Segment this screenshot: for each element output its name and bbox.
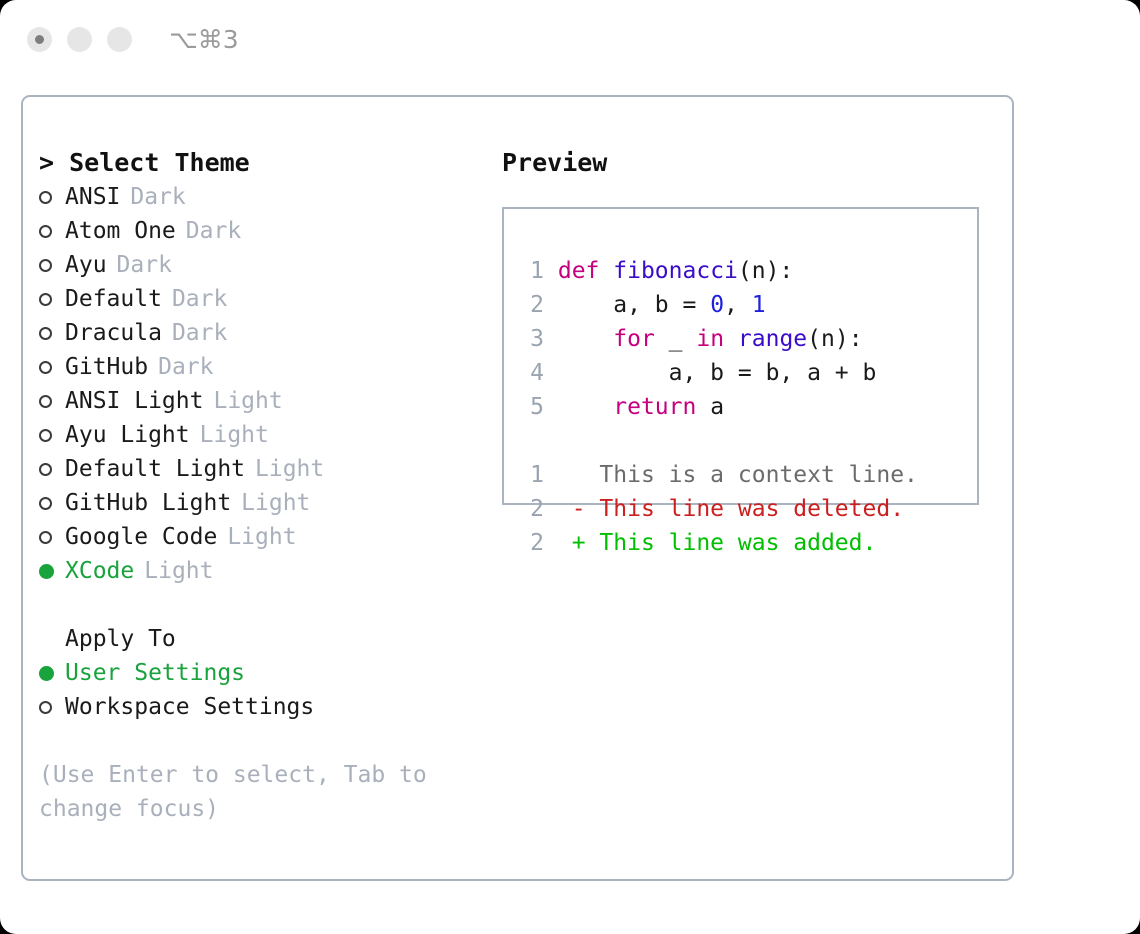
theme-list: ANSIDarkAtom OneDarkAyuDarkDefaultDarkDr… (39, 180, 489, 588)
code-line-number: 2 (516, 492, 544, 526)
theme-radio (39, 350, 65, 384)
theme-name-label: XCode (65, 554, 134, 588)
code-line-number: 2 (516, 288, 544, 322)
code-line: 4 a, b = b, a + b (516, 356, 918, 390)
apply-to-option[interactable]: Workspace Settings (39, 690, 489, 724)
active-indicator-dot (35, 35, 44, 44)
theme-kind-label: Light (255, 452, 324, 486)
code-token-fn: fibonacci (613, 258, 738, 284)
theme-radio (39, 316, 65, 350)
theme-name-label: Default Light (65, 452, 245, 486)
radio-unselected-icon (39, 327, 52, 340)
app-window: ⌥⌘3 > Select Theme ANSIDarkAtom OneDarkA… (0, 0, 1140, 934)
theme-name-label: Google Code (65, 520, 217, 554)
theme-list-item[interactable]: GitHub LightLight (39, 486, 489, 520)
code-token-plain (558, 394, 613, 420)
code-line: 5 return a (516, 390, 918, 424)
theme-kind-label: Light (144, 554, 213, 588)
apply-to-label: User Settings (65, 656, 245, 690)
code-token-plain (599, 258, 613, 284)
preview-heading: Preview (502, 146, 1002, 180)
gutter-gap (544, 360, 558, 386)
apply-to-option[interactable]: User Settings (39, 656, 489, 690)
theme-kind-label: Light (241, 486, 310, 520)
theme-kind-label: Dark (117, 248, 172, 282)
code-token-kw: in (696, 326, 724, 352)
code-token-plain (724, 326, 738, 352)
code-token-fn: range (738, 326, 807, 352)
main-panel: > Select Theme ANSIDarkAtom OneDarkAyuDa… (21, 95, 1014, 881)
apply-to-radio (39, 690, 65, 724)
radio-unselected-icon (39, 361, 52, 374)
radio-unselected-icon (39, 225, 52, 238)
theme-radio (39, 520, 65, 554)
apply-to-radio (39, 656, 65, 690)
theme-kind-label: Light (213, 384, 282, 418)
code-line-number: 1 (516, 254, 544, 288)
code-token-plain: _ (655, 326, 697, 352)
code-blank-line (516, 424, 918, 458)
radio-unselected-icon (39, 191, 52, 204)
code-token-plain: a, b = (558, 292, 710, 318)
diff-line: 2 - This line was deleted. (516, 492, 918, 526)
code-preview-area: 1 def fibonacci(n):2 a, b = 0, 13 for _ … (516, 254, 918, 560)
theme-list-item[interactable]: DefaultDark (39, 282, 489, 316)
theme-radio (39, 554, 65, 588)
code-line-number: 3 (516, 322, 544, 356)
theme-list-item[interactable]: ANSIDark (39, 180, 489, 214)
titlebar: ⌥⌘3 (0, 0, 1140, 78)
theme-radio (39, 384, 65, 418)
apply-to-heading: Apply To (39, 622, 489, 656)
theme-kind-label: Dark (172, 316, 227, 350)
apply-to-options: User SettingsWorkspace Settings (39, 656, 489, 724)
code-token-del: - This line was deleted. (558, 496, 904, 522)
theme-radio (39, 214, 65, 248)
code-token-kw: for (613, 326, 655, 352)
radio-unselected-icon (39, 259, 52, 272)
radio-unselected-icon (39, 395, 52, 408)
theme-list-item[interactable]: AyuDark (39, 248, 489, 282)
diff-line: 2 + This line was added. (516, 526, 918, 560)
theme-name-label: Ayu (65, 248, 107, 282)
preview-column: Preview (502, 146, 1002, 180)
gutter-gap (544, 292, 558, 318)
code-token-plain: , (724, 292, 752, 318)
theme-kind-label: Dark (172, 282, 227, 316)
radio-unselected-icon (39, 463, 52, 476)
apply-to-block: Apply To User SettingsWorkspace Settings (39, 622, 489, 724)
theme-radio (39, 248, 65, 282)
traffic-light-maximize-icon[interactable] (107, 27, 132, 52)
gutter-gap (544, 258, 558, 284)
theme-selector-column: > Select Theme ANSIDarkAtom OneDarkAyuDa… (39, 146, 489, 826)
gutter-gap (544, 326, 558, 352)
code-token-plain: (n): (807, 326, 862, 352)
radio-unselected-icon (39, 429, 52, 442)
code-token-plain: a, b = b, a + b (558, 360, 877, 386)
theme-radio (39, 452, 65, 486)
code-token-num: 0 (710, 292, 724, 318)
preview-box: 1 def fibonacci(n):2 a, b = 0, 13 for _ … (502, 207, 979, 505)
theme-kind-label: Dark (158, 350, 213, 384)
theme-name-label: ANSI Light (65, 384, 203, 418)
radio-unselected-icon (39, 293, 52, 306)
theme-radio (39, 282, 65, 316)
select-theme-heading: > Select Theme (39, 146, 489, 180)
gutter-gap (544, 394, 558, 420)
theme-radio (39, 418, 65, 452)
theme-name-label: Dracula (65, 316, 162, 350)
code-token-plain: (n): (738, 258, 793, 284)
theme-kind-label: Light (200, 418, 269, 452)
theme-list-item[interactable]: GitHubDark (39, 350, 489, 384)
theme-list-item[interactable]: Ayu LightLight (39, 418, 489, 452)
code-line: 2 a, b = 0, 1 (516, 288, 918, 322)
theme-kind-label: Dark (186, 214, 241, 248)
radio-selected-icon (39, 666, 54, 681)
code-line: 3 for _ in range(n): (516, 322, 918, 356)
apply-to-label: Workspace Settings (65, 690, 314, 724)
theme-kind-label: Dark (130, 180, 185, 214)
theme-name-label: ANSI (65, 180, 120, 214)
keyboard-hint-text: (Use Enter to select, Tab to change focu… (39, 758, 459, 826)
code-token-kw: return (613, 394, 696, 420)
theme-list-item[interactable]: ANSI LightLight (39, 384, 489, 418)
traffic-light-minimize-icon[interactable] (67, 27, 92, 52)
theme-list-item[interactable]: Default LightLight (39, 452, 489, 486)
radio-unselected-icon (39, 497, 52, 510)
theme-kind-label: Light (227, 520, 296, 554)
theme-name-label: Default (65, 282, 162, 316)
code-line: 1 def fibonacci(n): (516, 254, 918, 288)
theme-name-label: Atom One (65, 214, 176, 248)
code-line-number: 4 (516, 356, 544, 390)
theme-list-item[interactable]: Google CodeLight (39, 520, 489, 554)
theme-name-label: GitHub Light (65, 486, 231, 520)
theme-list-item[interactable]: DraculaDark (39, 316, 489, 350)
theme-list-item[interactable]: Atom OneDark (39, 214, 489, 248)
code-line-number: 1 (516, 458, 544, 492)
radio-selected-icon (39, 564, 54, 579)
code-line-number: 5 (516, 390, 544, 424)
code-token-ctx: This is a context line. (558, 462, 918, 488)
code-token-num: 1 (752, 292, 766, 318)
code-token-plain: a (696, 394, 724, 420)
code-token-add: + This line was added. (558, 530, 877, 556)
gutter-gap (544, 530, 558, 556)
traffic-light-close-icon[interactable] (27, 27, 52, 52)
gutter-gap (544, 462, 558, 488)
theme-name-label: GitHub (65, 350, 148, 384)
diff-line: 1 This is a context line. (516, 458, 918, 492)
code-token-kw: def (558, 258, 600, 284)
radio-unselected-icon (39, 701, 52, 714)
keyboard-shortcut-label: ⌥⌘3 (169, 25, 239, 54)
theme-name-label: Ayu Light (65, 418, 190, 452)
code-token-plain (558, 326, 613, 352)
radio-unselected-icon (39, 531, 52, 544)
code-line-number: 2 (516, 526, 544, 560)
theme-radio (39, 486, 65, 520)
theme-list-item[interactable]: XCodeLight (39, 554, 489, 588)
theme-radio (39, 180, 65, 214)
gutter-gap (544, 496, 558, 522)
